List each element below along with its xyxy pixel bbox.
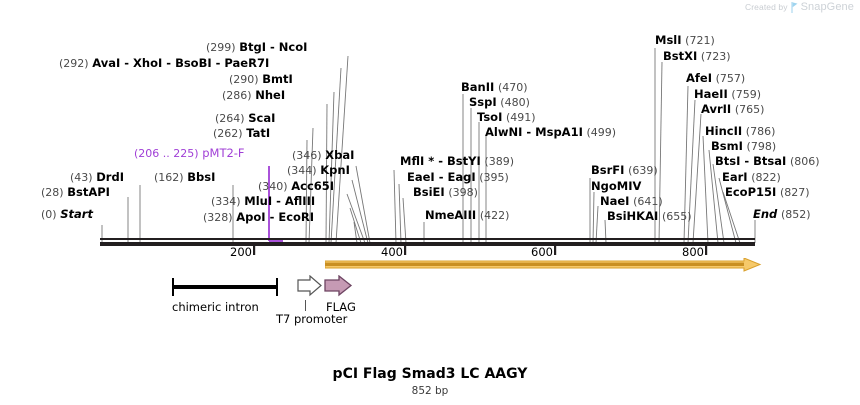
ruler-ticks — [0, 246, 860, 258]
site-label-398[interactable]: BsiEI (398) — [413, 186, 478, 199]
site-label-389[interactable]: MflI * - BstYI (389) — [400, 155, 514, 168]
site-label-262[interactable]: (262) TatI — [213, 127, 270, 140]
site-label-641[interactable]: NaeI (641) — [600, 195, 663, 208]
site-label-721[interactable]: MslI (721) — [655, 34, 715, 47]
site-label-757[interactable]: AfeI (757) — [686, 72, 745, 85]
feature-t7-promoter-arrow[interactable] — [297, 275, 323, 301]
site-label-290[interactable]: (290) BmtI — [229, 73, 293, 86]
page-title: pCI Flag Smad3 LC AAGY — [0, 366, 860, 382]
cds-arrow[interactable] — [325, 258, 765, 272]
site-label-827[interactable]: EcoP15I (827) — [725, 186, 810, 199]
primer-label-pmt2f[interactable]: (206 .. 225) pMT2-F — [134, 147, 245, 160]
feature-chimeric-intron-right-cap — [276, 278, 278, 296]
site-label-395[interactable]: EaeI - EagI (395) — [407, 171, 509, 184]
site-label-28[interactable]: (28) BstAPI — [41, 186, 110, 199]
feature-chimeric-intron-left-cap — [172, 278, 174, 296]
site-label-806[interactable]: BtsI - BtsaI (806) — [715, 155, 820, 168]
feature-flag-arrow[interactable] — [324, 275, 354, 301]
site-label-765[interactable]: AvrII (765) — [701, 103, 764, 116]
plasmid-length-label: 852 bp — [0, 385, 860, 397]
ruler-tick-label-200: 200 — [230, 245, 252, 259]
sequence-backbone-upper — [100, 238, 755, 240]
feature-chimeric-intron-bar[interactable] — [172, 285, 278, 289]
site-label-822[interactable]: EarI (822) — [722, 171, 781, 184]
site-label-786[interactable]: HincII (786) — [705, 125, 775, 138]
site-label-639[interactable]: BsrFI (639) — [591, 164, 658, 177]
site-label-422[interactable]: NmeAIII (422) — [425, 209, 509, 222]
site-label-286[interactable]: (286) NheI — [222, 89, 285, 102]
site-label-43[interactable]: (43) DrdI — [70, 171, 124, 184]
site-label-655[interactable]: BsiHKAI (655) — [607, 210, 692, 223]
site-label-759[interactable]: HaeII (759) — [694, 88, 761, 101]
site-label-start[interactable]: (0) Start — [41, 208, 93, 221]
ruler-tick-label-400: 400 — [381, 245, 403, 259]
site-label-292[interactable]: (292) AvaI - XhoI - BsoBI - PaeR7I — [59, 57, 269, 70]
feature-t7-promoter-tick — [304, 300, 308, 311]
site-label-299[interactable]: (299) BtgI - NcoI — [206, 41, 307, 54]
site-label-334[interactable]: (334) MluI - AflIII — [211, 195, 315, 208]
ruler-tick-label-600: 600 — [531, 245, 553, 259]
site-label-344[interactable]: (344) KpnI — [287, 164, 350, 177]
feature-label-t7-promoter: T7 promoter — [276, 312, 347, 326]
site-label-328[interactable]: (328) ApoI - EcoRI — [203, 211, 314, 224]
site-label-491[interactable]: TsoI (491) — [477, 111, 536, 124]
site-label-499[interactable]: AlwNI - MspA1I (499) — [485, 126, 616, 139]
site-label-340[interactable]: (340) Acc65I — [258, 180, 334, 193]
feature-label-chimeric-intron: chimeric intron — [172, 300, 259, 314]
site-label-723[interactable]: BstXI (723) — [663, 50, 731, 63]
plasmid-map-canvas: Created by SnapGene — [0, 0, 860, 405]
site-label-798[interactable]: BsmI (798) — [711, 140, 776, 153]
site-label-end[interactable]: End (852) — [753, 208, 811, 221]
feature-label-flag: FLAG — [326, 300, 356, 314]
site-label-470[interactable]: BanII (470) — [461, 81, 528, 94]
site-label-346[interactable]: (346) XbaI — [292, 149, 354, 162]
site-label-480[interactable]: SspI (480) — [469, 96, 530, 109]
site-label-640[interactable]: NgoMIV — [591, 180, 641, 193]
ruler-tick-label-800: 800 — [682, 245, 704, 259]
site-label-162[interactable]: (162) BbsI — [154, 171, 215, 184]
site-label-264[interactable]: (264) ScaI — [215, 112, 275, 125]
